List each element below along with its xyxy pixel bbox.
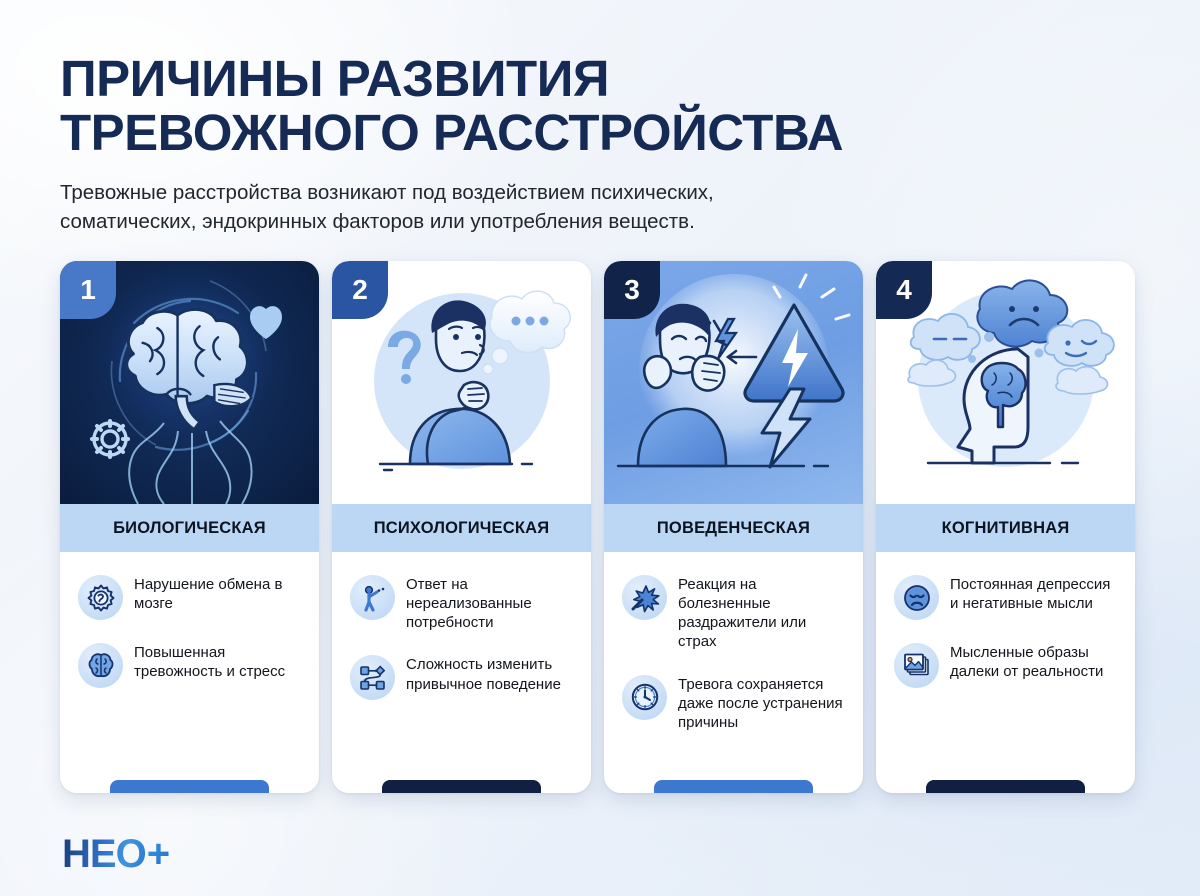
cards-row: 1 БИОЛОГИЧЕСКАЯ bbox=[60, 261, 1140, 793]
card-bottom-bar bbox=[654, 780, 813, 793]
card-number: 1 bbox=[80, 274, 96, 306]
list-item: Мысленные образы далеки от реальности bbox=[894, 642, 1119, 688]
footer-logo: НЕО + bbox=[62, 834, 170, 874]
header: ПРИЧИНЫ РАЗВИТИЯ ТРЕВОЖНОГО РАССТРОЙСТВА… bbox=[60, 52, 1140, 236]
title-line-2: ТРЕВОЖНОГО РАССТРОЙСТВА bbox=[60, 106, 1140, 160]
bullet-text: Ответ на нереализованные потребности bbox=[406, 574, 575, 632]
card-number-badge: 3 bbox=[604, 261, 660, 319]
list-item: Сложность изменить привычное поведение bbox=[350, 654, 575, 700]
clock-icon bbox=[622, 675, 667, 720]
bullet-text: Нарушение обмена в мозге bbox=[134, 574, 303, 613]
card-label-band: БИОЛОГИЧЕСКАЯ bbox=[60, 504, 319, 552]
infographic-page: ПРИЧИНЫ РАЗВИТИЯ ТРЕВОЖНОГО РАССТРОЙСТВА… bbox=[0, 0, 1200, 896]
bullet-text: Повышенная тревожность и стресс bbox=[134, 642, 303, 681]
card-bullets: Реакция на болезненные раздражители или … bbox=[604, 552, 863, 793]
card-label-band: КОГНИТИВНАЯ bbox=[876, 504, 1135, 552]
page-title: ПРИЧИНЫ РАЗВИТИЯ ТРЕВОЖНОГО РАССТРОЙСТВА bbox=[60, 52, 1140, 160]
card-label-band: ПСИХОЛОГИЧЕСКАЯ bbox=[332, 504, 591, 552]
brain-icon bbox=[78, 643, 123, 688]
card-label: БИОЛОГИЧЕСКАЯ bbox=[113, 519, 266, 538]
bullet-text: Реакция на болезненные раздражители или … bbox=[678, 574, 847, 651]
subtitle-line-1: Тревожные расстройства возникают под воз… bbox=[60, 178, 990, 207]
subtitle-line-2: соматических, эндокринных факторов или у… bbox=[60, 207, 990, 236]
card-behavioral[interactable]: 3 ПОВЕДЕНЧЕСКАЯ Реакция на болезненные р… bbox=[604, 261, 863, 793]
person-reaching-icon bbox=[350, 575, 395, 620]
title-line-1: ПРИЧИНЫ РАЗВИТИЯ bbox=[60, 50, 609, 107]
illustration-startled-person-warning: 3 bbox=[604, 261, 863, 504]
illustration-thinking-person: 2 bbox=[332, 261, 591, 504]
illustration-head-thought-clouds: 4 bbox=[876, 261, 1135, 504]
card-number: 3 bbox=[624, 274, 640, 306]
logo-wordmark: НЕО bbox=[62, 834, 146, 874]
flowchart-icon bbox=[350, 655, 395, 700]
bullet-text: Мысленные образы далеки от реальности bbox=[950, 642, 1119, 681]
list-item: Реакция на болезненные раздражители или … bbox=[622, 574, 847, 651]
card-psychological[interactable]: 2 ПСИХОЛОГИЧЕСКАЯ bbox=[332, 261, 591, 793]
card-number: 4 bbox=[896, 274, 912, 306]
card-bullets: Нарушение обмена в мозге bbox=[60, 552, 319, 793]
gear-metabolism-icon bbox=[78, 575, 123, 620]
card-label: ПСИХОЛОГИЧЕСКАЯ bbox=[374, 519, 550, 538]
card-label: КОГНИТИВНАЯ bbox=[942, 519, 1070, 538]
card-bottom-bar bbox=[926, 780, 1085, 793]
card-label-band: ПОВЕДЕНЧЕСКАЯ bbox=[604, 504, 863, 552]
card-biological[interactable]: 1 БИОЛОГИЧЕСКАЯ bbox=[60, 261, 319, 793]
card-number-badge: 1 bbox=[60, 261, 116, 319]
card-bullets: Постоянная депрессия и негативные мысли … bbox=[876, 552, 1135, 793]
images-icon bbox=[894, 643, 939, 688]
logo-plus-icon: + bbox=[147, 834, 170, 874]
card-label: ПОВЕДЕНЧЕСКАЯ bbox=[657, 519, 810, 538]
page-subtitle: Тревожные расстройства возникают под воз… bbox=[60, 178, 990, 236]
card-cognitive[interactable]: 4 КОГНИТИВНАЯ bbox=[876, 261, 1135, 793]
burst-impact-icon bbox=[622, 575, 667, 620]
card-bottom-bar bbox=[110, 780, 269, 793]
list-item: Ответ на нереализованные потребности bbox=[350, 574, 575, 632]
list-item: Нарушение обмена в мозге bbox=[78, 574, 303, 620]
card-number-badge: 2 bbox=[332, 261, 388, 319]
illustration-brain-neural: 1 bbox=[60, 261, 319, 504]
bullet-text: Сложность изменить привычное поведение bbox=[406, 654, 575, 693]
card-number-badge: 4 bbox=[876, 261, 932, 319]
list-item: Тревога сохраняется даже после устранени… bbox=[622, 674, 847, 732]
card-bullets: Ответ на нереализованные потребности bbox=[332, 552, 591, 793]
bullet-text: Постоянная депрессия и негативные мысли bbox=[950, 574, 1119, 613]
card-number: 2 bbox=[352, 274, 368, 306]
card-bottom-bar bbox=[382, 780, 541, 793]
list-item: Постоянная депрессия и негативные мысли bbox=[894, 574, 1119, 620]
list-item: Повышенная тревожность и стресс bbox=[78, 642, 303, 688]
bullet-text: Тревога сохраняется даже после устранени… bbox=[678, 674, 847, 732]
sad-face-icon bbox=[894, 575, 939, 620]
